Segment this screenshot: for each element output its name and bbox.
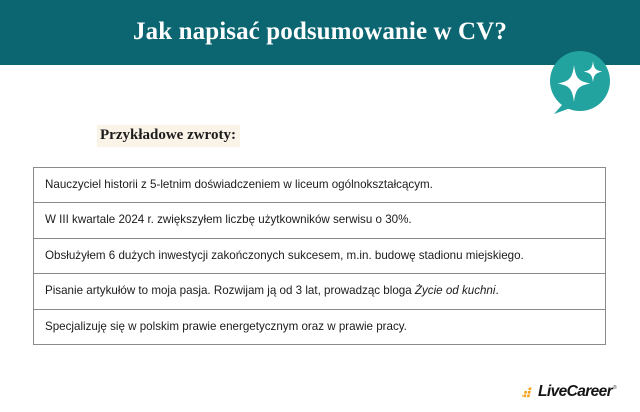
table-cell-phrase: Obsłużyłem 6 dużych inwestycji zakończon… xyxy=(34,249,532,263)
table-cell-phrase: Nauczyciel historii z 5-letnim doświadcz… xyxy=(34,178,441,192)
table-row: Nauczyciel historii z 5-letnim doświadcz… xyxy=(34,168,605,203)
table-cell-phrase: W III kwartale 2024 r. zwiększyłem liczb… xyxy=(34,213,420,227)
table-row: W III kwartale 2024 r. zwiększyłem liczb… xyxy=(34,203,605,238)
trademark-symbol: ® xyxy=(613,385,616,391)
speech-bubble-sparkle-icon xyxy=(540,48,612,122)
phrase-text-plain: Pisanie artykułów to moja pasja. Rozwija… xyxy=(45,284,415,297)
table-row: Obsłużyłem 6 dużych inwestycji zakończon… xyxy=(34,239,605,274)
livecareer-wordmark: LiveCareer xyxy=(538,383,612,400)
table-cell-phrase: Specjalizuję się w polskim prawie energe… xyxy=(34,320,415,334)
table-row: Specjalizuję się w polskim prawie energe… xyxy=(34,310,605,345)
table-row: Pisanie artykułów to moja pasja. Rozwija… xyxy=(34,274,605,309)
livecareer-logo[interactable]: LiveCareer® xyxy=(522,383,616,399)
section-subtitle: Przykładowe zwroty: xyxy=(97,125,240,147)
slide-canvas: Jak napisać podsumowanie w CV? Przykłado… xyxy=(0,0,640,412)
phrase-text-italic: Życie od kuchni xyxy=(415,284,496,297)
table-cell-phrase: Pisanie artykułów to moja pasja. Rozwija… xyxy=(34,284,507,298)
livecareer-logo-mark-icon xyxy=(522,386,536,398)
phrase-text-trailing: . xyxy=(495,284,498,297)
livecareer-logo-text: LiveCareer® xyxy=(538,384,616,400)
example-phrases-table: Nauczyciel historii z 5-letnim doświadcz… xyxy=(33,167,606,345)
